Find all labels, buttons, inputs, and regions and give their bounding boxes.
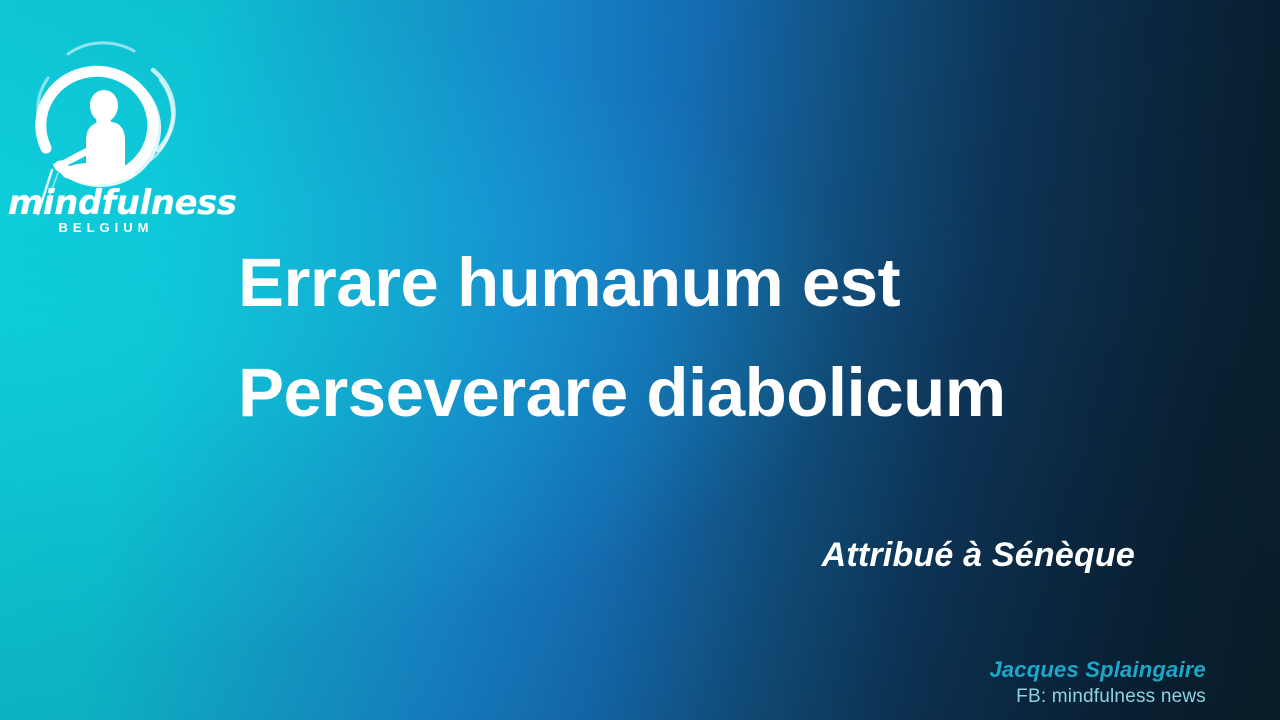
credit-social-handle: FB: mindfulness news <box>989 684 1206 710</box>
meditating-person-icon <box>53 90 135 179</box>
mindfulness-belgium-logo: mindfulness BELGIUM <box>8 18 204 228</box>
quote-attribution: Attribué à Sénèque <box>0 536 1135 575</box>
slide-canvas: mindfulness BELGIUM Errare humanum est P… <box>0 0 1280 720</box>
credit-author: Jacques Splaingaire <box>989 656 1206 684</box>
logo-subtitle: BELGIUM <box>8 221 204 234</box>
quote-block: Errare humanum est Perseverare diabolicu… <box>238 228 1238 448</box>
quote-line-2: Perseverare diabolicum <box>238 338 1238 448</box>
credit-block: Jacques Splaingaire FB: mindfulness news <box>989 656 1206 710</box>
logo-wordmark: mindfulness <box>8 186 204 220</box>
quote-line-1: Errare humanum est <box>238 228 1238 338</box>
